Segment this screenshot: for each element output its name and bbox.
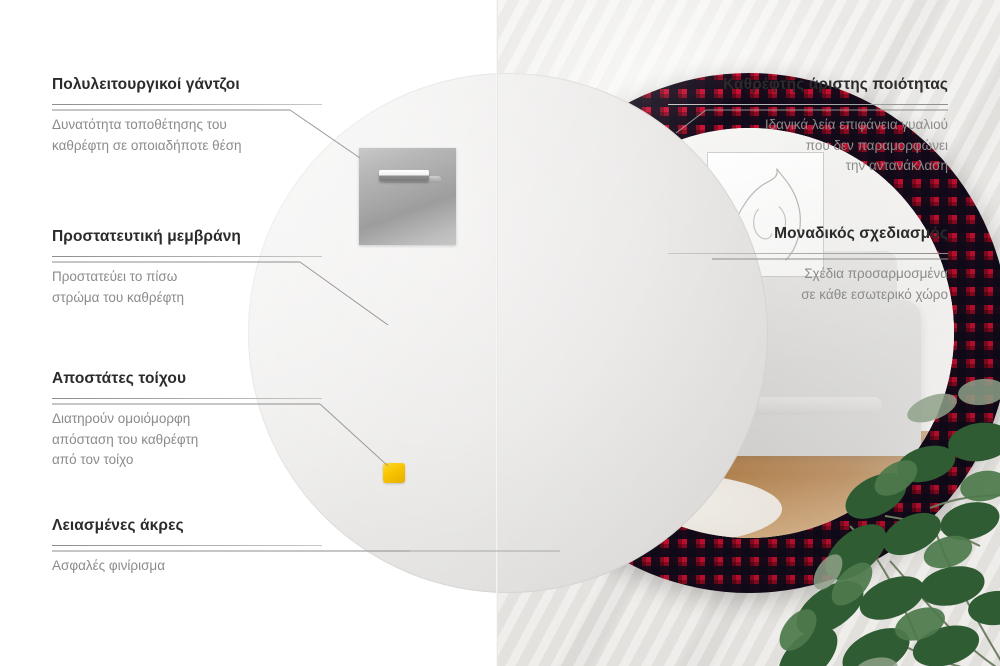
callout-wall-spacers-title: Αποστάτες τοίχου (52, 370, 322, 389)
callout-unique-design: Μοναδικός σχεδιασμός Σχέδια προσαρμοσμέν… (668, 225, 948, 305)
callout-protective-membrane-rule (52, 256, 322, 257)
hanging-hook-part (359, 148, 456, 245)
callout-protective-membrane: Προστατευτική μεμβράνη Προστατεύει το πί… (52, 228, 322, 308)
callout-wall-spacers-body: Διατηρούν ομοιόμορφηαπόσταση του καθρέφτ… (52, 409, 322, 472)
callout-hooks-body: Δυνατότητα τοποθέτησης τουκαθρέφτη σε οπ… (52, 115, 322, 157)
callout-smooth-edges-body: Ασφαλές φινίρισμα (52, 556, 322, 577)
callout-unique-design-title: Μοναδικός σχεδιασμός (668, 225, 948, 244)
callout-top-quality-mirror: Καθρέφτης άριστης ποιότητας Ιδανικά λεία… (668, 76, 948, 177)
callout-protective-membrane-title: Προστατευτική μεμβράνη (52, 228, 322, 247)
wall-spacer-part (383, 463, 405, 483)
callout-top-quality-mirror-title: Καθρέφτης άριστης ποιότητας (668, 76, 948, 95)
callout-hooks-rule (52, 104, 322, 105)
callout-unique-design-body: Σχέδια προσαρμοσμένασε κάθε εσωτερικό χώ… (668, 264, 948, 306)
callout-top-quality-mirror-rule (668, 104, 948, 105)
callout-top-quality-mirror-body: Ιδανικά λεία επιφάνεια γυαλιούπου δεν πα… (668, 115, 948, 178)
callout-smooth-edges-title: Λειασμένες άκρες (52, 517, 322, 536)
panel-divider (496, 0, 498, 666)
callout-hooks-title: Πολυλειτουργικοί γάντζοι (52, 76, 322, 95)
callout-wall-spacers-rule (52, 398, 322, 399)
infographic-canvas: Πολυλειτουργικοί γάντζοι Δυνατότητα τοπο… (0, 0, 1000, 666)
callout-smooth-edges-rule (52, 545, 322, 546)
hook-slot (379, 170, 429, 181)
callout-protective-membrane-body: Προστατεύει το πίσωστρώμα του καθρέφτη (52, 267, 322, 309)
callout-wall-spacers: Αποστάτες τοίχου Διατηρούν ομοιόμορφηαπό… (52, 370, 322, 471)
callout-unique-design-rule (668, 253, 948, 254)
callout-hooks: Πολυλειτουργικοί γάντζοι Δυνατότητα τοπο… (52, 76, 322, 156)
callout-smooth-edges: Λειασμένες άκρες Ασφαλές φινίρισμα (52, 517, 322, 577)
